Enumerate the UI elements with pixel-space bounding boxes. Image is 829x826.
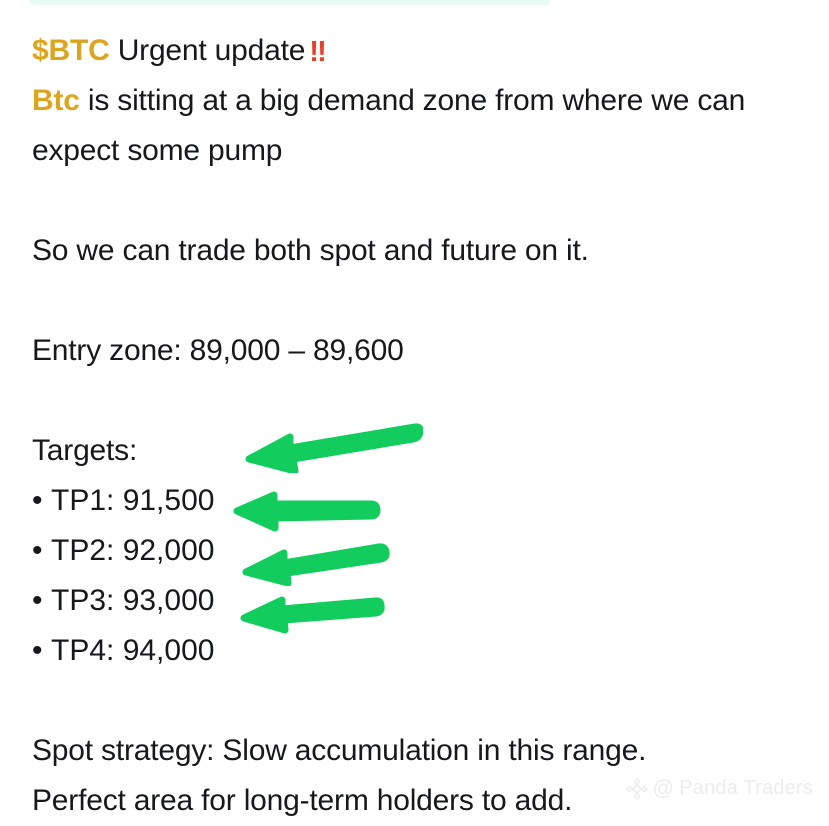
entry-zone-line: Entry zone: 89,000 – 89,600 xyxy=(32,326,799,376)
target-item-label: TP3: 93,000 xyxy=(51,584,214,617)
target-item-tp3: •TP3: 93,000 xyxy=(32,576,799,626)
bullet-icon: • xyxy=(32,476,51,526)
paragraph-spacer-4 xyxy=(32,676,799,726)
watermark: @ Panda Traders xyxy=(626,777,813,800)
ticker-word-btc[interactable]: Btc xyxy=(32,84,80,117)
strategy-line-1: Spot strategy: Slow accumulation in this… xyxy=(32,726,799,776)
watermark-at-symbol: @ xyxy=(653,778,675,799)
intro-text: is sitting at a big demand zone from whe… xyxy=(32,84,745,167)
target-item-tp1: •TP1: 91,500 xyxy=(32,476,799,526)
bullet-icon: • xyxy=(32,576,51,626)
target-item-label: TP1: 91,500 xyxy=(51,484,214,517)
bullet-icon: • xyxy=(32,526,51,576)
paragraph-spacer-2 xyxy=(32,276,799,326)
intro-paragraph: Btc is sitting at a big demand zone from… xyxy=(32,76,799,176)
paragraph-spacer-3 xyxy=(32,376,799,426)
headline-text: Urgent update xyxy=(118,34,306,67)
ticker-symbol-btc[interactable]: $BTC xyxy=(32,34,110,67)
bullet-icon: • xyxy=(32,626,51,676)
paragraph-spacer-1 xyxy=(32,176,799,226)
targets-heading: Targets: xyxy=(32,426,799,476)
trade-note-line: So we can trade both spot and future on … xyxy=(32,226,799,276)
watermark-handle: Panda Traders xyxy=(679,777,813,800)
double-exclamation-mark-icon: ‼ xyxy=(305,27,325,77)
target-item-tp2: •TP2: 92,000 xyxy=(32,526,799,576)
target-item-label: TP4: 94,000 xyxy=(51,634,214,667)
post-canvas: $BTC Urgent update‼ Btc is sitting at a … xyxy=(0,0,829,808)
binance-diamond-logo-icon xyxy=(626,778,648,800)
target-item-label: TP2: 92,000 xyxy=(51,534,214,567)
target-item-tp4: •TP4: 94,000 xyxy=(32,626,799,676)
headline-line: $BTC Urgent update‼ xyxy=(32,26,799,76)
post-body: $BTC Urgent update‼ Btc is sitting at a … xyxy=(0,0,829,826)
